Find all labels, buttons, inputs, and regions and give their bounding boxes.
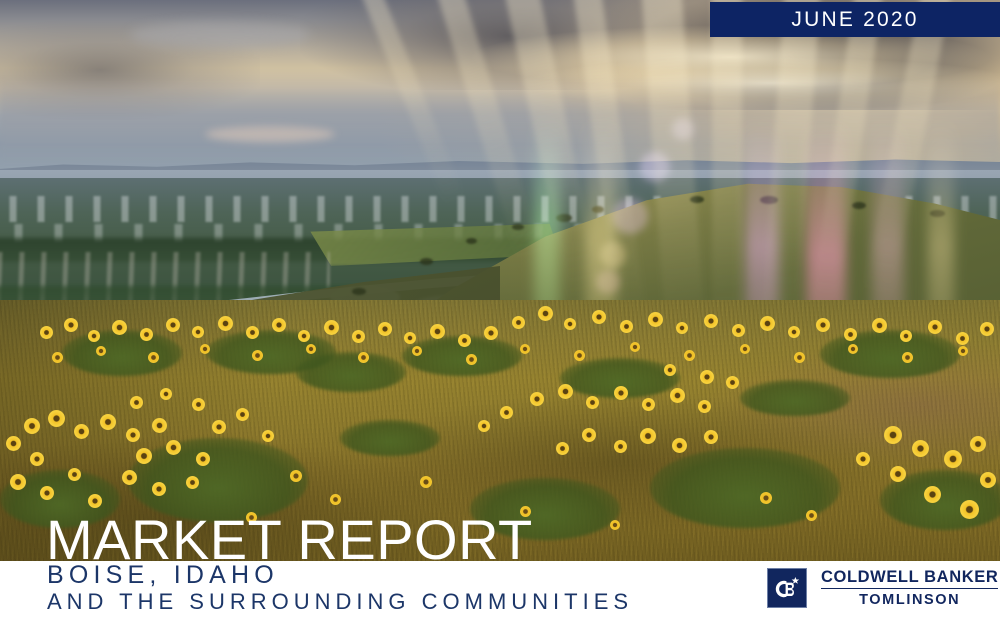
- brand-name-affiliate: TOMLINSON: [859, 593, 960, 608]
- wildflower: [324, 320, 339, 335]
- wildflower: [620, 320, 633, 333]
- wildflower: [378, 322, 392, 336]
- wildflower: [466, 354, 477, 365]
- wildflower: [944, 450, 962, 468]
- wildflower: [30, 452, 44, 466]
- wildflower: [574, 350, 585, 361]
- wildflower: [74, 424, 89, 439]
- wildflower: [212, 420, 226, 434]
- wildflower: [884, 426, 902, 444]
- wildflower: [352, 330, 365, 343]
- wildflower: [330, 494, 341, 505]
- wildflower: [166, 440, 181, 455]
- wildflower: [88, 494, 102, 508]
- wildflower: [40, 486, 54, 500]
- wildflower: [152, 482, 166, 496]
- coldwell-banker-logo: COLDWELL BANKER TOMLINSON: [767, 568, 998, 608]
- wildflower: [218, 316, 233, 331]
- wildflower: [52, 352, 63, 363]
- balsamroot-bush: [340, 420, 440, 456]
- wildflower: [740, 344, 750, 354]
- wildflower: [970, 436, 986, 452]
- wildflower: [614, 386, 628, 400]
- wildflower: [358, 352, 369, 363]
- wildflower: [556, 442, 569, 455]
- brand-name-primary: COLDWELL BANKER: [821, 569, 998, 589]
- wildflower: [648, 312, 663, 327]
- wildflower: [10, 474, 26, 490]
- wildflower: [806, 510, 817, 521]
- wildflower: [252, 350, 263, 361]
- wildflower: [192, 398, 205, 411]
- wildflower: [520, 344, 530, 354]
- wildflower: [670, 388, 685, 403]
- wildflower: [760, 492, 772, 504]
- wildflower: [664, 364, 676, 376]
- wildflower: [582, 428, 596, 442]
- wildflower: [856, 452, 870, 466]
- wildflower: [960, 500, 979, 519]
- crest-shrub: [852, 202, 866, 209]
- wildflower: [672, 438, 687, 453]
- lens-flare-ghost: [672, 118, 694, 140]
- wildflower: [788, 326, 800, 338]
- wildflower: [196, 452, 210, 466]
- wildflower: [586, 396, 599, 409]
- balsamroot-bush: [296, 352, 406, 392]
- rain-haze: [0, 78, 1000, 164]
- wildflower: [140, 328, 153, 341]
- wildflower: [980, 472, 996, 488]
- date-banner-label: JUNE 2020: [791, 8, 918, 32]
- lens-flare-ghost: [596, 270, 620, 294]
- wildflower: [704, 314, 718, 328]
- wildflower: [890, 466, 906, 482]
- wildflower: [848, 344, 858, 354]
- wildflower: [676, 322, 688, 334]
- coldwell-banker-cb-monogram-icon: [767, 568, 807, 608]
- wildflower: [760, 316, 775, 331]
- wildflower: [262, 430, 274, 442]
- wildflower: [130, 396, 143, 409]
- balsamroot-bush: [62, 330, 182, 376]
- crest-shrub: [466, 238, 477, 244]
- page-title: MARKET REPORT: [46, 512, 533, 568]
- wildflower: [40, 326, 53, 339]
- wildflower: [458, 334, 471, 347]
- balsamroot-bush: [740, 380, 850, 416]
- wildflower: [726, 376, 739, 389]
- wildflower: [912, 440, 929, 457]
- balsamroot-bush: [820, 330, 960, 378]
- wildflower: [538, 306, 553, 321]
- wildflower: [148, 352, 159, 363]
- wildflower: [192, 326, 204, 338]
- wildflower: [610, 520, 620, 530]
- wildflower: [136, 448, 152, 464]
- wildflower: [958, 346, 968, 356]
- wildflower: [640, 428, 656, 444]
- wildflower: [924, 486, 941, 503]
- crest-shrub: [352, 288, 366, 295]
- wildflower: [430, 324, 445, 339]
- wildflower: [484, 326, 498, 340]
- wildflower: [160, 388, 172, 400]
- coldwell-banker-wordmark: COLDWELL BANKER TOMLINSON: [821, 569, 998, 607]
- wildflower: [64, 318, 78, 332]
- wildflower: [122, 470, 137, 485]
- wildflower: [48, 410, 65, 427]
- wildflower: [186, 476, 199, 489]
- wildflower: [96, 346, 106, 356]
- lens-flare-ghost: [612, 198, 648, 234]
- wildflower: [272, 318, 286, 332]
- wildflower: [166, 318, 180, 332]
- wildflower: [630, 342, 640, 352]
- wildflower: [684, 350, 695, 361]
- wildflower: [152, 418, 167, 433]
- wildflower: [404, 332, 416, 344]
- wildflower: [112, 320, 127, 335]
- wildflower: [412, 346, 422, 356]
- crest-shrub: [420, 258, 433, 265]
- wildflower: [6, 436, 21, 451]
- wildflower: [900, 330, 912, 342]
- lens-flare-ghost: [640, 152, 670, 182]
- wildflower: [420, 476, 432, 488]
- cloud-wisp-left: [130, 22, 310, 48]
- wildflower: [246, 326, 259, 339]
- wildflower: [500, 406, 513, 419]
- wildflower: [642, 398, 655, 411]
- subtitle-location: BOISE, IDAHO: [47, 563, 279, 588]
- wildflower: [980, 322, 994, 336]
- wildflower: [872, 318, 887, 333]
- wildflower: [816, 318, 830, 332]
- lens-flare-ghost: [600, 242, 626, 268]
- wildflower: [126, 428, 140, 442]
- market-report-cover: JUNE 2020 MARKET REPORT BOISE, IDAHO AND…: [0, 0, 1000, 627]
- wildflower: [564, 318, 576, 330]
- wildflower: [844, 328, 857, 341]
- wildflower: [68, 468, 81, 481]
- wildflower: [512, 316, 525, 329]
- wildflower: [478, 420, 490, 432]
- wildflower: [236, 408, 249, 421]
- wildflower: [24, 418, 40, 434]
- wildflower: [592, 310, 606, 324]
- wildflower: [558, 384, 573, 399]
- wildflower: [290, 470, 302, 482]
- wildflower: [614, 440, 627, 453]
- wildflower: [732, 324, 745, 337]
- wildflower: [902, 352, 913, 363]
- wildflower: [704, 430, 718, 444]
- crest-shrub: [690, 196, 704, 203]
- subtitle-communities: AND THE SURROUNDING COMMUNITIES: [47, 591, 633, 613]
- wildflower: [700, 370, 714, 384]
- cover-photo: [0, 0, 1000, 562]
- wildflower: [530, 392, 544, 406]
- crest-shrub: [512, 224, 524, 230]
- wildflower: [88, 330, 100, 342]
- wildflower: [200, 344, 210, 354]
- wildflower: [794, 352, 805, 363]
- wildflower: [928, 320, 942, 334]
- wildflower: [698, 400, 711, 413]
- wildflower: [100, 414, 116, 430]
- wildflower: [298, 330, 310, 342]
- date-banner: JUNE 2020: [710, 2, 1000, 37]
- wildflower: [306, 344, 316, 354]
- wildflower: [956, 332, 969, 345]
